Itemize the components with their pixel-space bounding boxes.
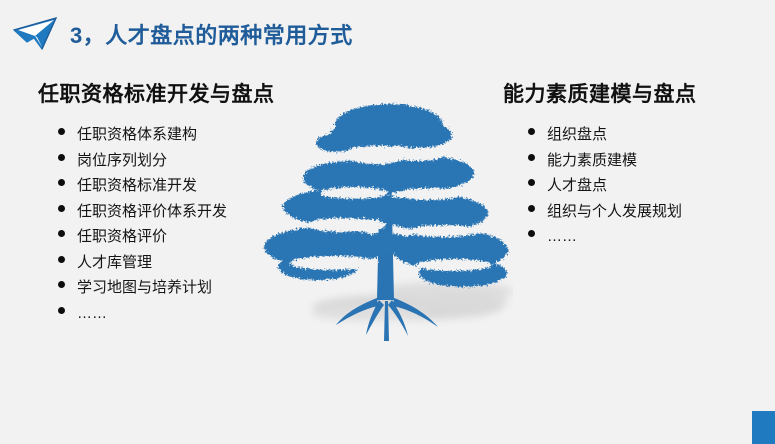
list-item-label: 任职资格评价 bbox=[77, 224, 167, 250]
column-left: 任职资格标准开发与盘点 任职资格体系建构 岗位序列划分 任职资格标准开发 任职资… bbox=[30, 78, 320, 326]
column-right-heading: 能力素质建模与盘点 bbox=[503, 78, 770, 108]
slide-canvas: 3，人才盘点的两种常用方式 bbox=[0, 0, 775, 444]
list-item: 任职资格标准开发 bbox=[58, 173, 320, 199]
list-item-label: 任职资格评价体系开发 bbox=[77, 199, 227, 225]
tree-shadow bbox=[312, 282, 513, 321]
page-title: 3，人才盘点的两种常用方式 bbox=[70, 18, 353, 50]
bullet-dot-icon bbox=[528, 154, 535, 161]
list-item: …… bbox=[58, 301, 320, 327]
slide-header: 3，人才盘点的两种常用方式 bbox=[0, 0, 775, 58]
column-right: 能力素质建模与盘点 组织盘点 能力素质建模 人才盘点 组织与个人发展规划 …… bbox=[495, 78, 770, 250]
list-item: 人才库管理 bbox=[58, 250, 320, 276]
bullet-dot-icon bbox=[58, 256, 65, 263]
bullet-dot-icon bbox=[58, 281, 65, 288]
list-item-label: …… bbox=[547, 224, 577, 250]
arrow-left-icon bbox=[12, 16, 62, 50]
bullet-dot-icon bbox=[58, 179, 65, 186]
corner-accent-block bbox=[752, 411, 775, 444]
list-item-label: 组织与个人发展规划 bbox=[547, 199, 682, 225]
bullet-dot-icon bbox=[58, 154, 65, 161]
column-left-bullet-list: 任职资格体系建构 岗位序列划分 任职资格标准开发 任职资格评价体系开发 任职资格… bbox=[58, 122, 320, 326]
list-item: 组织与个人发展规划 bbox=[528, 199, 770, 225]
bullet-dot-icon bbox=[528, 128, 535, 135]
bullet-dot-icon bbox=[528, 205, 535, 212]
list-item-label: 学习地图与培养计划 bbox=[77, 275, 212, 301]
bullet-dot-icon bbox=[528, 230, 535, 237]
bullet-dot-icon bbox=[58, 307, 65, 314]
list-item-label: 人才盘点 bbox=[547, 173, 607, 199]
list-item-label: 岗位序列划分 bbox=[77, 148, 167, 174]
bullet-dot-icon bbox=[58, 230, 65, 237]
list-item-label: 任职资格体系建构 bbox=[77, 122, 197, 148]
list-item-label: 人才库管理 bbox=[77, 250, 152, 276]
list-item: 人才盘点 bbox=[528, 173, 770, 199]
list-item: 任职资格评价体系开发 bbox=[58, 199, 320, 225]
list-item-label: 能力素质建模 bbox=[547, 148, 637, 174]
column-left-heading: 任职资格标准开发与盘点 bbox=[38, 78, 320, 108]
column-right-bullet-list: 组织盘点 能力素质建模 人才盘点 组织与个人发展规划 …… bbox=[528, 122, 770, 250]
list-item-label: 任职资格标准开发 bbox=[77, 173, 197, 199]
list-item: 岗位序列划分 bbox=[58, 148, 320, 174]
list-item: 能力素质建模 bbox=[528, 148, 770, 174]
bullet-dot-icon bbox=[58, 205, 65, 212]
bullet-dot-icon bbox=[58, 128, 65, 135]
list-item: 学习地图与培养计划 bbox=[58, 275, 320, 301]
list-item-label: 组织盘点 bbox=[547, 122, 607, 148]
bullet-dot-icon bbox=[528, 179, 535, 186]
list-item: 组织盘点 bbox=[528, 122, 770, 148]
list-item: 任职资格评价 bbox=[58, 224, 320, 250]
list-item-label: …… bbox=[77, 301, 107, 327]
list-item: …… bbox=[528, 224, 770, 250]
list-item: 任职资格体系建构 bbox=[58, 122, 320, 148]
